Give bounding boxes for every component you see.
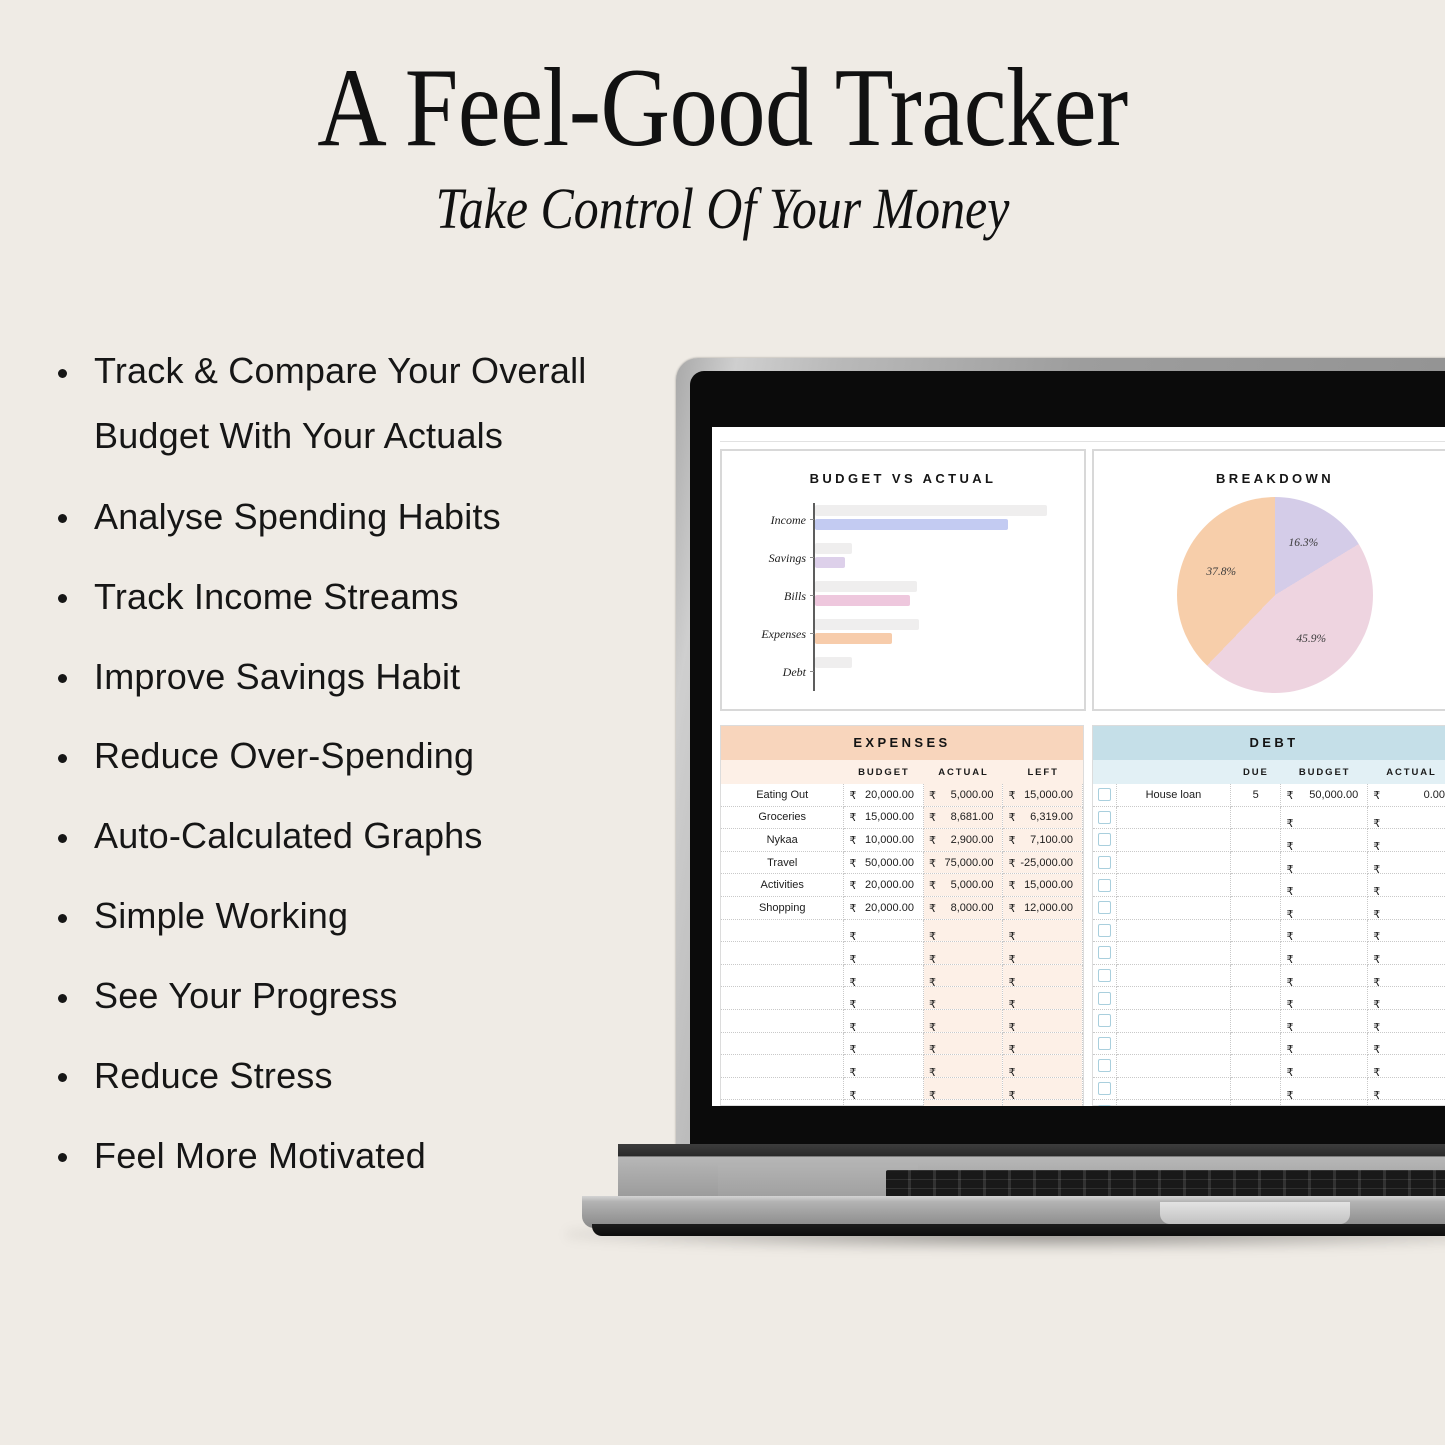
amount-value: 20,000.00 — [848, 789, 919, 801]
currency-symbol: ₹ — [1286, 885, 1293, 896]
currency-symbol: ₹ — [929, 1043, 936, 1054]
money-cell[interactable]: ₹ — [923, 942, 1003, 965]
currency-symbol: ₹ — [1286, 817, 1293, 828]
money-cell[interactable]: ₹20,000.00 — [844, 874, 924, 897]
debt-due[interactable] — [1230, 829, 1281, 852]
currency-symbol: ₹ — [1008, 902, 1015, 915]
currency-symbol: ₹ — [1286, 863, 1293, 874]
currency-symbol: ₹ — [929, 976, 936, 987]
debt-paid-checkbox-cell[interactable] — [1093, 1077, 1116, 1100]
debt-rows[interactable]: House loan5₹50,000.00₹0.00₹₹₹₹₹₹₹₹₹₹₹₹₹₹… — [1093, 784, 1445, 1106]
money-cell[interactable]: ₹2,900.00 — [923, 829, 1003, 852]
checkbox-icon[interactable] — [1098, 879, 1111, 892]
currency-symbol: ₹ — [849, 789, 856, 802]
laptop-mockup: BUDGET VS ACTUAL IncomeSavingsBillsExpen… — [556, 358, 1445, 1258]
expense-name[interactable]: Shopping — [721, 896, 844, 919]
breakdown-chart[interactable]: BREAKDOWN 16.3% 45.9% 37.8% — [1092, 449, 1445, 711]
debt-name[interactable] — [1116, 829, 1230, 852]
money-cell[interactable]: ₹ — [1368, 896, 1445, 919]
currency-symbol: ₹ — [1286, 908, 1293, 919]
money-cell[interactable]: ₹ — [1281, 851, 1368, 874]
money-cell[interactable]: ₹ — [1003, 964, 1083, 987]
money-cell[interactable]: ₹ — [1281, 874, 1368, 897]
chart-title-breakdown: BREAKDOWN — [1094, 471, 1445, 486]
table-row[interactable]: ₹₹ — [1093, 1009, 1445, 1032]
amount-value: 5,000.00 — [928, 789, 999, 801]
feature-label: Track Income Streams — [94, 576, 459, 617]
pie-chart-plot: 16.3% 45.9% 37.8% — [1094, 497, 1445, 697]
checkbox-icon[interactable] — [1098, 992, 1111, 1005]
money-cell[interactable]: ₹ — [844, 1077, 924, 1100]
money-cell[interactable]: ₹8,000.00 — [923, 896, 1003, 919]
expense-name[interactable]: Groceries — [721, 806, 844, 829]
bullet-icon — [58, 914, 67, 923]
currency-symbol: ₹ — [1008, 1043, 1015, 1054]
bar-category-label: Savings — [722, 551, 806, 566]
debt-paid-checkbox-cell[interactable] — [1093, 1055, 1116, 1078]
laptop-bezel: BUDGET VS ACTUAL IncomeSavingsBillsExpen… — [690, 371, 1445, 1148]
feature-label: Reduce Over-Spending — [94, 735, 474, 776]
money-cell[interactable]: ₹ — [923, 919, 1003, 942]
debt-due[interactable] — [1230, 919, 1281, 942]
table-row[interactable]: ₹₹ — [1093, 919, 1445, 942]
expense-name[interactable] — [721, 919, 844, 942]
checkbox-icon[interactable] — [1098, 901, 1111, 914]
debt-name[interactable]: House loan — [1116, 784, 1230, 806]
money-cell[interactable]: ₹ — [923, 987, 1003, 1010]
debt-paid-checkbox-cell[interactable] — [1093, 896, 1116, 919]
currency-symbol: ₹ — [929, 1021, 936, 1032]
bar-category-label: Income — [722, 513, 806, 528]
money-cell[interactable]: ₹ — [1368, 942, 1445, 965]
currency-symbol: ₹ — [929, 857, 936, 870]
money-cell[interactable]: ₹8,681.00 — [923, 806, 1003, 829]
money-cell[interactable]: ₹ — [844, 964, 924, 987]
expenses-table[interactable]: EXPENSES BUDGET ACTUAL LEFT Eating Out₹2… — [720, 725, 1084, 1106]
debt-banner: DEBT — [1093, 726, 1445, 760]
currency-symbol: ₹ — [1373, 998, 1380, 1009]
feature-label: Simple Working — [94, 895, 348, 936]
bar-budget — [815, 543, 852, 554]
currency-symbol: ₹ — [849, 811, 856, 824]
feature-label: Feel More Motivated — [94, 1135, 426, 1176]
debt-paid-checkbox-cell[interactable] — [1093, 987, 1116, 1010]
chart-title-budget: BUDGET VS ACTUAL — [722, 471, 1084, 486]
debt-due[interactable] — [1230, 1055, 1281, 1078]
debt-paid-checkbox-cell[interactable] — [1093, 806, 1116, 829]
debt-due[interactable] — [1230, 806, 1281, 829]
expense-name[interactable]: Nykaa — [721, 829, 844, 852]
currency-symbol: ₹ — [1373, 953, 1380, 964]
money-cell[interactable]: ₹ — [1281, 896, 1368, 919]
currency-symbol: ₹ — [1373, 930, 1380, 941]
currency-symbol: ₹ — [849, 1021, 856, 1032]
debt-name[interactable] — [1116, 942, 1230, 965]
currency-symbol: ₹ — [1286, 1021, 1293, 1032]
currency-symbol: ₹ — [849, 1066, 856, 1077]
feature-label: Track & Compare Your Overall — [94, 350, 586, 391]
money-cell[interactable]: ₹7,100.00 — [1003, 829, 1083, 852]
money-cell[interactable]: ₹ — [1281, 1009, 1368, 1032]
table-row[interactable]: Groceries₹15,000.00₹8,681.00₹6,319.00 — [721, 806, 1083, 829]
currency-symbol: ₹ — [849, 953, 856, 964]
table-row[interactable]: ₹₹ — [1093, 987, 1445, 1010]
page-title: A Feel-Good Tracker — [101, 52, 1344, 164]
debt-due[interactable] — [1230, 1009, 1281, 1032]
money-cell[interactable]: ₹ — [923, 1055, 1003, 1078]
money-cell[interactable]: ₹ — [844, 987, 924, 1010]
table-row[interactable]: ₹₹ — [1093, 1100, 1445, 1106]
debt-name[interactable] — [1116, 1009, 1230, 1032]
money-cell[interactable]: ₹ — [1003, 1009, 1083, 1032]
currency-symbol: ₹ — [1286, 1089, 1293, 1100]
money-cell[interactable]: ₹ — [1368, 829, 1445, 852]
currency-symbol: ₹ — [1008, 1066, 1015, 1077]
debt-name[interactable] — [1116, 896, 1230, 919]
currency-symbol: ₹ — [1373, 789, 1380, 802]
expense-name[interactable] — [721, 1100, 844, 1106]
money-cell[interactable]: ₹50,000.00 — [844, 851, 924, 874]
debt-due[interactable] — [1230, 896, 1281, 919]
money-cell[interactable]: ₹10,000.00 — [844, 829, 924, 852]
money-cell[interactable]: ₹ — [1368, 1100, 1445, 1106]
money-cell[interactable]: ₹12,000.00 — [1003, 896, 1083, 919]
expense-name[interactable]: Eating Out — [721, 784, 844, 806]
money-cell[interactable]: ₹ — [1368, 964, 1445, 987]
amount-value: -25,000.00 — [1007, 857, 1078, 869]
money-cell[interactable]: ₹ — [1281, 987, 1368, 1010]
table-row[interactable]: House loan5₹50,000.00₹0.00 — [1093, 784, 1445, 806]
money-cell[interactable]: ₹ — [1368, 874, 1445, 897]
bullet-icon — [58, 754, 67, 763]
debt-table[interactable]: DEBT DUE BUDGET ACTUAL House loan5₹50,00… — [1092, 725, 1445, 1106]
checkbox-icon[interactable] — [1098, 969, 1111, 982]
table-row[interactable]: ₹₹₹ — [721, 919, 1083, 942]
debt-name[interactable] — [1116, 806, 1230, 829]
money-cell[interactable]: ₹20,000.00 — [844, 784, 924, 806]
expense-name[interactable] — [721, 1055, 844, 1078]
money-cell[interactable]: ₹15,000.00 — [1003, 784, 1083, 806]
amount-value: 50,000.00 — [848, 857, 919, 869]
debt-paid-checkbox-cell[interactable] — [1093, 829, 1116, 852]
expense-name[interactable]: Travel — [721, 851, 844, 874]
checkbox-icon[interactable] — [1098, 833, 1111, 846]
debt-paid-checkbox-cell[interactable] — [1093, 1009, 1116, 1032]
expenses-col-left: LEFT — [1003, 767, 1083, 778]
expenses-col-budget: BUDGET — [844, 767, 924, 778]
money-cell[interactable]: ₹50,000.00 — [1281, 784, 1368, 806]
debt-due[interactable] — [1230, 1100, 1281, 1106]
currency-symbol: ₹ — [1373, 1089, 1380, 1100]
money-cell[interactable]: ₹ — [1281, 1032, 1368, 1055]
checkbox-icon[interactable] — [1098, 946, 1111, 959]
checkbox-icon[interactable] — [1098, 1105, 1111, 1106]
money-cell[interactable]: ₹ — [1003, 1055, 1083, 1078]
money-cell[interactable]: ₹ — [1281, 829, 1368, 852]
currency-symbol: ₹ — [849, 998, 856, 1009]
header: A Feel-Good Tracker Take Control Of Your… — [0, 0, 1445, 238]
checkbox-icon[interactable] — [1098, 811, 1111, 824]
money-cell[interactable]: ₹ — [1368, 806, 1445, 829]
money-cell[interactable]: ₹ — [1368, 919, 1445, 942]
money-cell[interactable]: ₹ — [923, 1077, 1003, 1100]
money-cell[interactable]: ₹ — [1003, 1100, 1083, 1106]
debt-due[interactable]: 5 — [1230, 784, 1281, 806]
money-cell[interactable]: ₹ — [1003, 919, 1083, 942]
table-row[interactable]: ₹₹ — [1093, 1055, 1445, 1078]
debt-name[interactable] — [1116, 874, 1230, 897]
table-row[interactable]: ₹₹₹ — [721, 987, 1083, 1010]
currency-symbol: ₹ — [849, 976, 856, 987]
checkbox-icon[interactable] — [1098, 856, 1111, 869]
laptop-deck — [618, 1144, 1445, 1198]
amount-value: 0.00 — [1372, 789, 1445, 801]
table-row[interactable]: ₹₹ — [1093, 942, 1445, 965]
amount-value: 5,000.00 — [928, 879, 999, 891]
amount-value: 50,000.00 — [1285, 789, 1363, 801]
money-cell[interactable]: ₹ — [1281, 1077, 1368, 1100]
currency-symbol: ₹ — [1008, 834, 1015, 847]
currency-symbol: ₹ — [929, 998, 936, 1009]
expenses-column-headers: BUDGET ACTUAL LEFT — [721, 760, 1083, 784]
table-row[interactable]: Shopping₹20,000.00₹8,000.00₹12,000.00 — [721, 896, 1083, 919]
expense-name[interactable]: Activities — [721, 874, 844, 897]
currency-symbol: ₹ — [929, 902, 936, 915]
debt-due[interactable] — [1230, 987, 1281, 1010]
amount-value: 75,000.00 — [928, 857, 999, 869]
debt-name[interactable] — [1116, 1100, 1230, 1106]
laptop-latch-notch — [1160, 1202, 1350, 1224]
amount-value: 8,681.00 — [928, 811, 999, 823]
money-cell[interactable]: ₹ — [1368, 851, 1445, 874]
money-cell[interactable]: ₹5,000.00 — [923, 874, 1003, 897]
debt-paid-checkbox-cell[interactable] — [1093, 784, 1116, 806]
money-cell[interactable]: ₹ — [844, 942, 924, 965]
keyboard[interactable] — [886, 1170, 1445, 1198]
money-cell[interactable]: ₹20,000.00 — [844, 896, 924, 919]
debt-name[interactable] — [1116, 1077, 1230, 1100]
table-row[interactable]: ₹₹ — [1093, 1032, 1445, 1055]
debt-paid-checkbox-cell[interactable] — [1093, 919, 1116, 942]
table-row[interactable]: Activities₹20,000.00₹5,000.00₹15,000.00 — [721, 874, 1083, 897]
debt-name[interactable] — [1116, 851, 1230, 874]
money-cell[interactable]: ₹ — [1368, 1009, 1445, 1032]
money-cell[interactable]: ₹ — [1281, 942, 1368, 965]
table-row[interactable]: Nykaa₹10,000.00₹2,900.00₹7,100.00 — [721, 829, 1083, 852]
bar-actual — [815, 557, 845, 568]
checkbox-icon[interactable] — [1098, 788, 1111, 801]
money-cell[interactable]: ₹ — [844, 919, 924, 942]
pie-label-2: 45.9% — [1296, 633, 1326, 645]
table-row[interactable]: ₹₹₹ — [721, 1055, 1083, 1078]
debt-paid-checkbox-cell[interactable] — [1093, 874, 1116, 897]
amount-value: 20,000.00 — [848, 902, 919, 914]
money-cell[interactable]: ₹75,000.00 — [923, 851, 1003, 874]
table-row[interactable]: Travel₹50,000.00₹75,000.00₹-25,000.00 — [721, 851, 1083, 874]
debt-due[interactable] — [1230, 964, 1281, 987]
currency-symbol: ₹ — [1008, 1089, 1015, 1100]
money-cell[interactable]: ₹6,319.00 — [1003, 806, 1083, 829]
money-cell[interactable]: ₹5,000.00 — [923, 784, 1003, 806]
expense-name[interactable] — [721, 1077, 844, 1100]
amount-value: 8,000.00 — [928, 902, 999, 914]
debt-name[interactable] — [1116, 1055, 1230, 1078]
currency-symbol: ₹ — [929, 1089, 936, 1100]
money-cell[interactable]: ₹ — [923, 1032, 1003, 1055]
currency-symbol: ₹ — [849, 834, 856, 847]
table-row[interactable]: ₹₹₹ — [721, 1077, 1083, 1100]
money-cell[interactable]: ₹ — [1368, 1077, 1445, 1100]
amount-value: 10,000.00 — [848, 834, 919, 846]
money-cell[interactable]: ₹ — [844, 1055, 924, 1078]
money-cell[interactable]: ₹ — [923, 1100, 1003, 1106]
currency-symbol: ₹ — [929, 789, 936, 802]
expense-name[interactable] — [721, 1009, 844, 1032]
money-cell[interactable]: ₹ — [1003, 987, 1083, 1010]
laptop-screen: BUDGET VS ACTUAL IncomeSavingsBillsExpen… — [712, 427, 1445, 1106]
currency-symbol: ₹ — [1373, 976, 1380, 987]
debt-name[interactable] — [1116, 964, 1230, 987]
amount-value: 6,319.00 — [1007, 811, 1078, 823]
checkbox-icon[interactable] — [1098, 1082, 1111, 1095]
money-cell[interactable]: ₹15,000.00 — [1003, 874, 1083, 897]
bar-actual — [815, 633, 892, 644]
money-cell[interactable]: ₹ — [1281, 806, 1368, 829]
debt-paid-checkbox-cell[interactable] — [1093, 1100, 1116, 1106]
money-cell[interactable]: ₹ — [1368, 987, 1445, 1010]
currency-symbol: ₹ — [1373, 1021, 1380, 1032]
expense-name[interactable] — [721, 987, 844, 1010]
amount-value: 15,000.00 — [848, 811, 919, 823]
money-cell[interactable]: ₹ — [844, 1009, 924, 1032]
bullet-icon — [58, 369, 67, 378]
checkbox-icon[interactable] — [1098, 1037, 1111, 1050]
currency-symbol: ₹ — [1286, 789, 1293, 802]
currency-symbol: ₹ — [1373, 817, 1380, 828]
debt-due[interactable] — [1230, 1032, 1281, 1055]
currency-symbol: ₹ — [849, 902, 856, 915]
currency-symbol: ₹ — [929, 811, 936, 824]
currency-symbol: ₹ — [1008, 857, 1015, 870]
money-cell[interactable]: ₹ — [1281, 964, 1368, 987]
currency-symbol: ₹ — [849, 930, 856, 941]
debt-paid-checkbox-cell[interactable] — [1093, 851, 1116, 874]
expense-name[interactable] — [721, 1032, 844, 1055]
debt-paid-checkbox-cell[interactable] — [1093, 942, 1116, 965]
table-row[interactable]: ₹₹ — [1093, 806, 1445, 829]
currency-symbol: ₹ — [1373, 908, 1380, 919]
money-cell[interactable]: ₹0.00 — [1368, 784, 1445, 806]
currency-symbol: ₹ — [1286, 1043, 1293, 1054]
checkbox-icon[interactable] — [1098, 1059, 1111, 1072]
money-cell[interactable]: ₹ — [1003, 942, 1083, 965]
money-cell[interactable]: ₹15,000.00 — [844, 806, 924, 829]
money-cell[interactable]: ₹ — [923, 964, 1003, 987]
currency-symbol: ₹ — [929, 879, 936, 892]
bar-category-label: Expenses — [722, 627, 806, 642]
axis-tick — [810, 595, 814, 596]
bullet-icon — [58, 594, 67, 603]
money-cell[interactable]: ₹ — [844, 1100, 924, 1106]
table-row[interactable]: ₹₹ — [1093, 851, 1445, 874]
expense-name[interactable] — [721, 964, 844, 987]
money-cell[interactable]: ₹ — [1281, 919, 1368, 942]
axis-tick — [810, 633, 814, 634]
money-cell[interactable]: ₹ — [1368, 1055, 1445, 1078]
axis-tick — [810, 671, 814, 672]
bar-budget — [815, 505, 1047, 516]
spreadsheet[interactable]: BUDGET VS ACTUAL IncomeSavingsBillsExpen… — [712, 427, 1445, 1106]
table-row[interactable]: Eating Out₹20,000.00₹5,000.00₹15,000.00 — [721, 784, 1083, 806]
debt-due[interactable] — [1230, 851, 1281, 874]
table-row[interactable]: ₹₹ — [1093, 874, 1445, 897]
bar-budget — [815, 657, 852, 668]
amount-value: 15,000.00 — [1007, 789, 1078, 801]
money-cell[interactable]: ₹ — [923, 1009, 1003, 1032]
debt-due[interactable] — [1230, 1077, 1281, 1100]
checkbox-icon[interactable] — [1098, 1014, 1111, 1027]
currency-symbol: ₹ — [929, 953, 936, 964]
money-cell[interactable]: ₹ — [1281, 1100, 1368, 1106]
money-cell[interactable]: ₹ — [1368, 1032, 1445, 1055]
table-row[interactable]: ₹₹ — [1093, 1077, 1445, 1100]
table-row[interactable]: ₹₹₹ — [721, 964, 1083, 987]
bullet-icon — [58, 994, 67, 1003]
money-cell[interactable]: ₹ — [1003, 1077, 1083, 1100]
pie-label-1: 16.3% — [1289, 537, 1319, 549]
money-cell[interactable]: ₹ — [1003, 1032, 1083, 1055]
budget-vs-actual-chart[interactable]: BUDGET VS ACTUAL IncomeSavingsBillsExpen… — [720, 449, 1086, 711]
currency-symbol: ₹ — [1008, 879, 1015, 892]
debt-name[interactable] — [1116, 1032, 1230, 1055]
debt-col-budget: BUDGET — [1281, 767, 1368, 778]
feature-label: Improve Savings Habit — [94, 656, 460, 697]
bar-budget — [815, 619, 919, 630]
expense-name[interactable] — [721, 942, 844, 965]
debt-column-headers: DUE BUDGET ACTUAL — [1093, 760, 1445, 784]
table-row[interactable]: ₹₹ — [1093, 964, 1445, 987]
expenses-col-actual: ACTUAL — [924, 767, 1004, 778]
laptop-lid: BUDGET VS ACTUAL IncomeSavingsBillsExpen… — [676, 358, 1445, 1148]
currency-symbol: ₹ — [849, 879, 856, 892]
debt-paid-checkbox-cell[interactable] — [1093, 1032, 1116, 1055]
currency-symbol: ₹ — [1286, 998, 1293, 1009]
debt-due[interactable] — [1230, 874, 1281, 897]
money-cell[interactable]: ₹ — [844, 1032, 924, 1055]
checkbox-icon[interactable] — [1098, 924, 1111, 937]
table-row[interactable]: ₹₹₹ — [721, 1100, 1083, 1106]
table-row[interactable]: ₹₹ — [1093, 829, 1445, 852]
table-row[interactable]: ₹₹₹ — [721, 1009, 1083, 1032]
currency-symbol: ₹ — [1008, 930, 1015, 941]
sheet-top-rule — [720, 441, 1445, 442]
debt-due[interactable] — [1230, 942, 1281, 965]
expenses-rows[interactable]: Eating Out₹20,000.00₹5,000.00₹15,000.00G… — [721, 784, 1083, 1106]
pie-label-3: 37.8% — [1206, 566, 1236, 578]
currency-symbol: ₹ — [1286, 930, 1293, 941]
money-cell[interactable]: ₹-25,000.00 — [1003, 851, 1083, 874]
table-row[interactable]: ₹₹ — [1093, 896, 1445, 919]
debt-paid-checkbox-cell[interactable] — [1093, 964, 1116, 987]
debt-name[interactable] — [1116, 919, 1230, 942]
currency-symbol: ₹ — [1008, 1021, 1015, 1032]
table-row[interactable]: ₹₹₹ — [721, 1032, 1083, 1055]
currency-symbol: ₹ — [1373, 885, 1380, 896]
debt-name[interactable] — [1116, 987, 1230, 1010]
money-cell[interactable]: ₹ — [1281, 1055, 1368, 1078]
table-row[interactable]: ₹₹₹ — [721, 942, 1083, 965]
debt-col-due: DUE — [1231, 767, 1282, 778]
